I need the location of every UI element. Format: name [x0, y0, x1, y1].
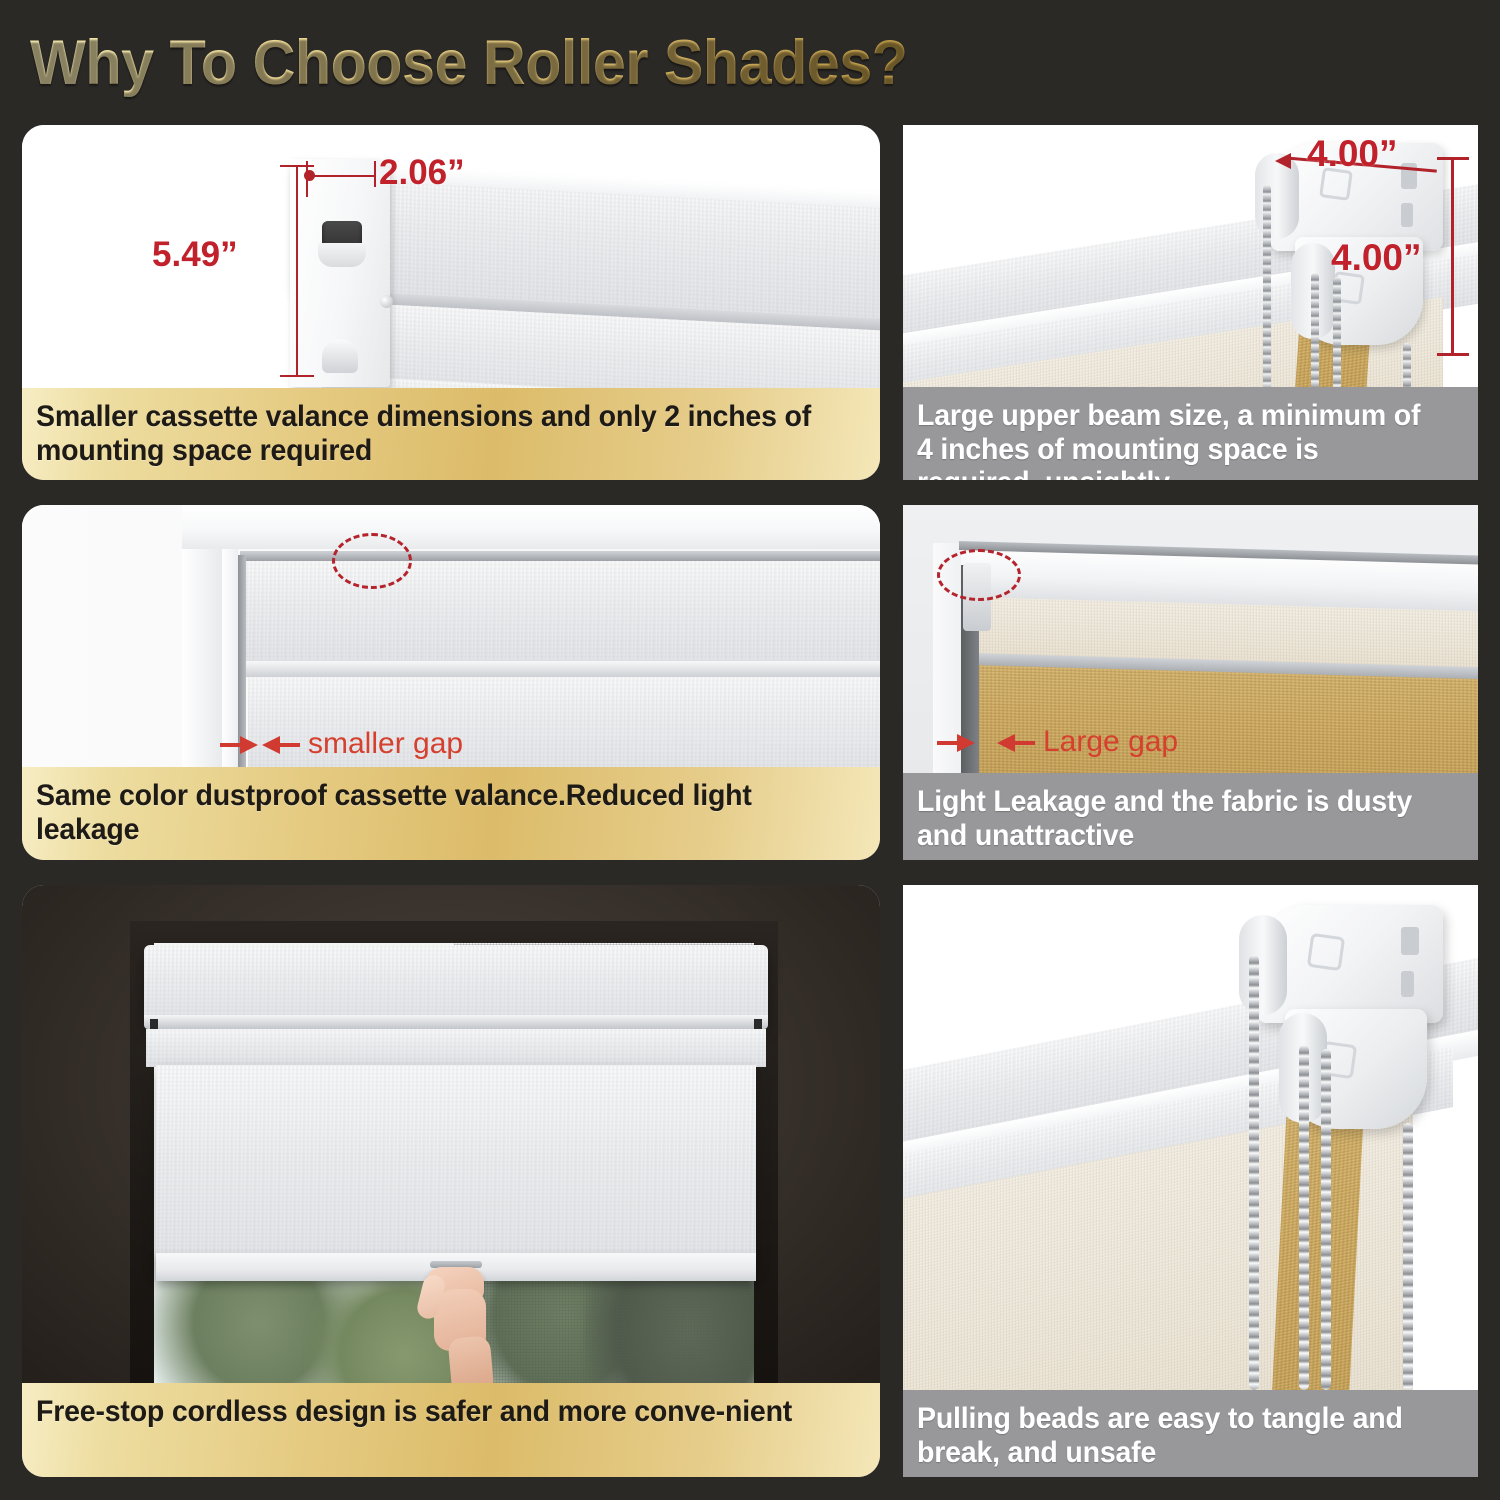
panel-caption-text: Large upper beam size, a minimum of 4 in…: [917, 399, 1437, 480]
gap-arrow-left-head: [240, 736, 258, 754]
beam-height-label: 4.00”: [1331, 237, 1422, 279]
bead-chain-4: [1403, 1123, 1413, 1390]
panel-caption-text: Smaller cassette valance dimensions and …: [36, 400, 825, 467]
panel-caption: Light Leakage and the fabric is dusty an…: [903, 773, 1478, 860]
width-dim-line: [308, 175, 376, 177]
panel-bad-upper-beam-size: 4.00” 4.00” Large upper beam size, a min…: [903, 125, 1478, 480]
cassette-headrail: [144, 945, 768, 1023]
bead-chain-3: [1333, 277, 1341, 387]
gap-arrow-left-stem: [220, 743, 242, 747]
beam-height-tick-top: [1437, 157, 1469, 160]
panel-caption: Large upper beam size, a minimum of 4 in…: [903, 387, 1478, 480]
cassette-groove: [242, 661, 880, 677]
height-dim-tick-top: [280, 165, 314, 167]
panel-good-dustproof-valance: smaller gap Same color dustproof cassett…: [22, 505, 880, 860]
end-cap-socket-lip: [318, 243, 366, 267]
bracket-slot-2: [1401, 971, 1414, 997]
gap-arrow-left-stem: [937, 741, 959, 745]
panel-caption: Free-stop cordless design is safer and m…: [22, 1383, 880, 1477]
bead-chain-3: [1321, 1049, 1331, 1390]
panel-good-cassette-dimensions: 2.06” 5.49” Smaller cassette valance dim…: [22, 125, 880, 480]
shade-fabric: [156, 1065, 756, 1270]
panel-caption-text: Pulling beads are easy to tangle and bre…: [917, 1402, 1437, 1469]
beam-width-arrow-left: [1275, 153, 1291, 169]
panel-bad-light-leakage: Large gap Light Leakage and the fabric i…: [903, 505, 1478, 860]
cassette-headrail-lip: [144, 1015, 768, 1029]
gap-arrow-right-stem: [1013, 741, 1035, 745]
gap-label: smaller gap: [308, 727, 463, 761]
beam-height-tick-bottom: [1437, 353, 1469, 356]
dustproof-valance-photo: smaller gap: [22, 505, 880, 777]
gap-highlight-circle: [937, 549, 1021, 601]
gap-highlight-circle: [332, 533, 412, 589]
panel-caption: Pulling beads are easy to tangle and bre…: [903, 1390, 1478, 1477]
upper-beam-photo: 4.00” 4.00”: [903, 125, 1478, 387]
width-dim-dot: [304, 170, 315, 181]
panel-good-cordless-design: Free-stop cordless design is safer and m…: [22, 885, 880, 1477]
cassette-lower-lip: [146, 1029, 766, 1067]
bracket-slot-1: [1401, 927, 1419, 955]
beam-height-dim-line: [1451, 157, 1454, 355]
height-dim-tick-bottom: [280, 375, 314, 377]
panel-caption-text: Same color dustproof cassette valance.Re…: [36, 779, 825, 846]
bead-chain-4: [1403, 343, 1411, 387]
end-cap-screw-lower: [322, 339, 358, 373]
width-dim-tick-right: [374, 161, 376, 187]
gap-arrow-right-stem: [278, 743, 300, 747]
bead-chain-2: [1299, 1045, 1309, 1390]
cordless-window-photo: [22, 885, 880, 1383]
window-frame-top: [182, 505, 880, 549]
light-leakage-photo: Large gap: [903, 505, 1478, 773]
panel-bad-pulling-beads: Pulling beads are easy to tangle and bre…: [903, 885, 1478, 1477]
panel-caption-text: Free-stop cordless design is safer and m…: [36, 1395, 825, 1429]
headrail-endcap-left: [150, 1019, 158, 1029]
beam-width-label: 4.00”: [1307, 133, 1398, 175]
bead-chain-1: [1263, 185, 1271, 387]
end-cap-screw-upper: [380, 295, 393, 308]
cassette-dimension-photo: 2.06” 5.49”: [22, 125, 880, 400]
panel-caption: Smaller cassette valance dimensions and …: [22, 388, 880, 480]
bracket-slot-2: [1401, 203, 1413, 227]
bead-chain-1: [1249, 955, 1259, 1390]
panel-caption: Same color dustproof cassette valance.Re…: [22, 767, 880, 860]
hand-wrist: [448, 1335, 495, 1383]
gap-label: Large gap: [1043, 725, 1178, 759]
cassette-fabric-upper: [242, 561, 880, 665]
height-dimension-label: 5.49”: [152, 235, 238, 275]
height-dim-line: [296, 165, 298, 377]
headrail-endcap-right: [754, 1019, 762, 1029]
bead-chain-2: [1311, 273, 1319, 387]
bead-wheel-upper: [1239, 915, 1287, 1015]
bracket-emboss-1: [1307, 933, 1345, 971]
comparison-grid: 2.06” 5.49” Smaller cassette valance dim…: [0, 0, 1500, 1500]
pulling-beads-photo: [903, 885, 1478, 1390]
width-dimension-label: 2.06”: [379, 153, 465, 193]
gap-arrow-left-head: [957, 734, 975, 752]
panel-caption-text: Light Leakage and the fabric is dusty an…: [917, 785, 1437, 852]
